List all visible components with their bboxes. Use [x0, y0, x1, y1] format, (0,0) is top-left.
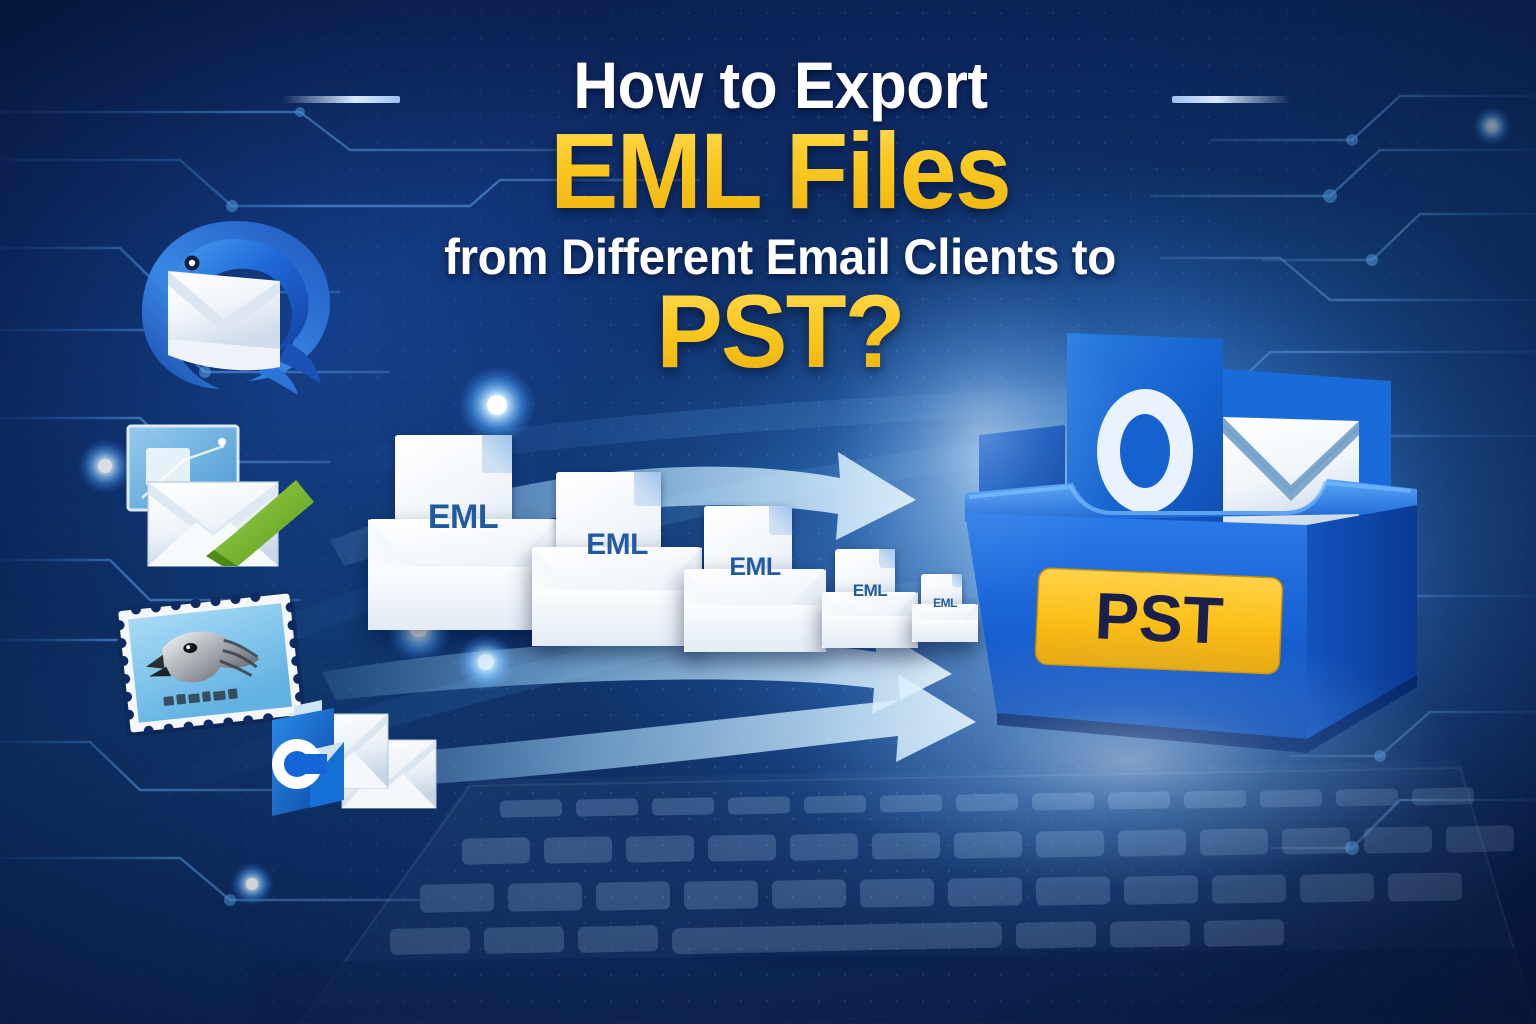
eml-front: [368, 567, 558, 630]
title-line-2: EML Files: [324, 121, 1236, 220]
eml-front: [684, 605, 826, 652]
eml-file-2: EML: [532, 512, 702, 646]
eml-front: [532, 590, 702, 646]
pst-destination-box: PST: [955, 325, 1435, 765]
outlook-express-icon: [212, 690, 442, 850]
title-row-1: How to Export: [300, 52, 1260, 119]
title-line-4: PST?: [319, 283, 1241, 382]
title-line-1: How to Export: [573, 52, 987, 119]
eml-label: EML: [368, 498, 558, 537]
pst-badge: PST: [1035, 568, 1283, 674]
eml-file-1: EML: [368, 480, 558, 630]
eml-front: [822, 616, 918, 648]
page-title: How to Export EML Files from Different E…: [300, 52, 1260, 381]
eml-file-4: EML: [822, 572, 918, 648]
eml-label: EML: [532, 528, 702, 562]
title-rule-right-icon: [1172, 96, 1290, 103]
hero-banner: How to Export EML Files from Different E…: [0, 0, 1536, 1024]
windows-live-mail-icon: [118, 420, 333, 580]
outlook-letter-o: [1097, 389, 1193, 513]
eml-file-3: EML: [684, 540, 826, 652]
eml-label: EML: [822, 581, 918, 601]
pst-badge-text: PST: [1093, 578, 1224, 657]
eml-label: EML: [684, 553, 826, 582]
title-rule-left-icon: [282, 96, 400, 103]
